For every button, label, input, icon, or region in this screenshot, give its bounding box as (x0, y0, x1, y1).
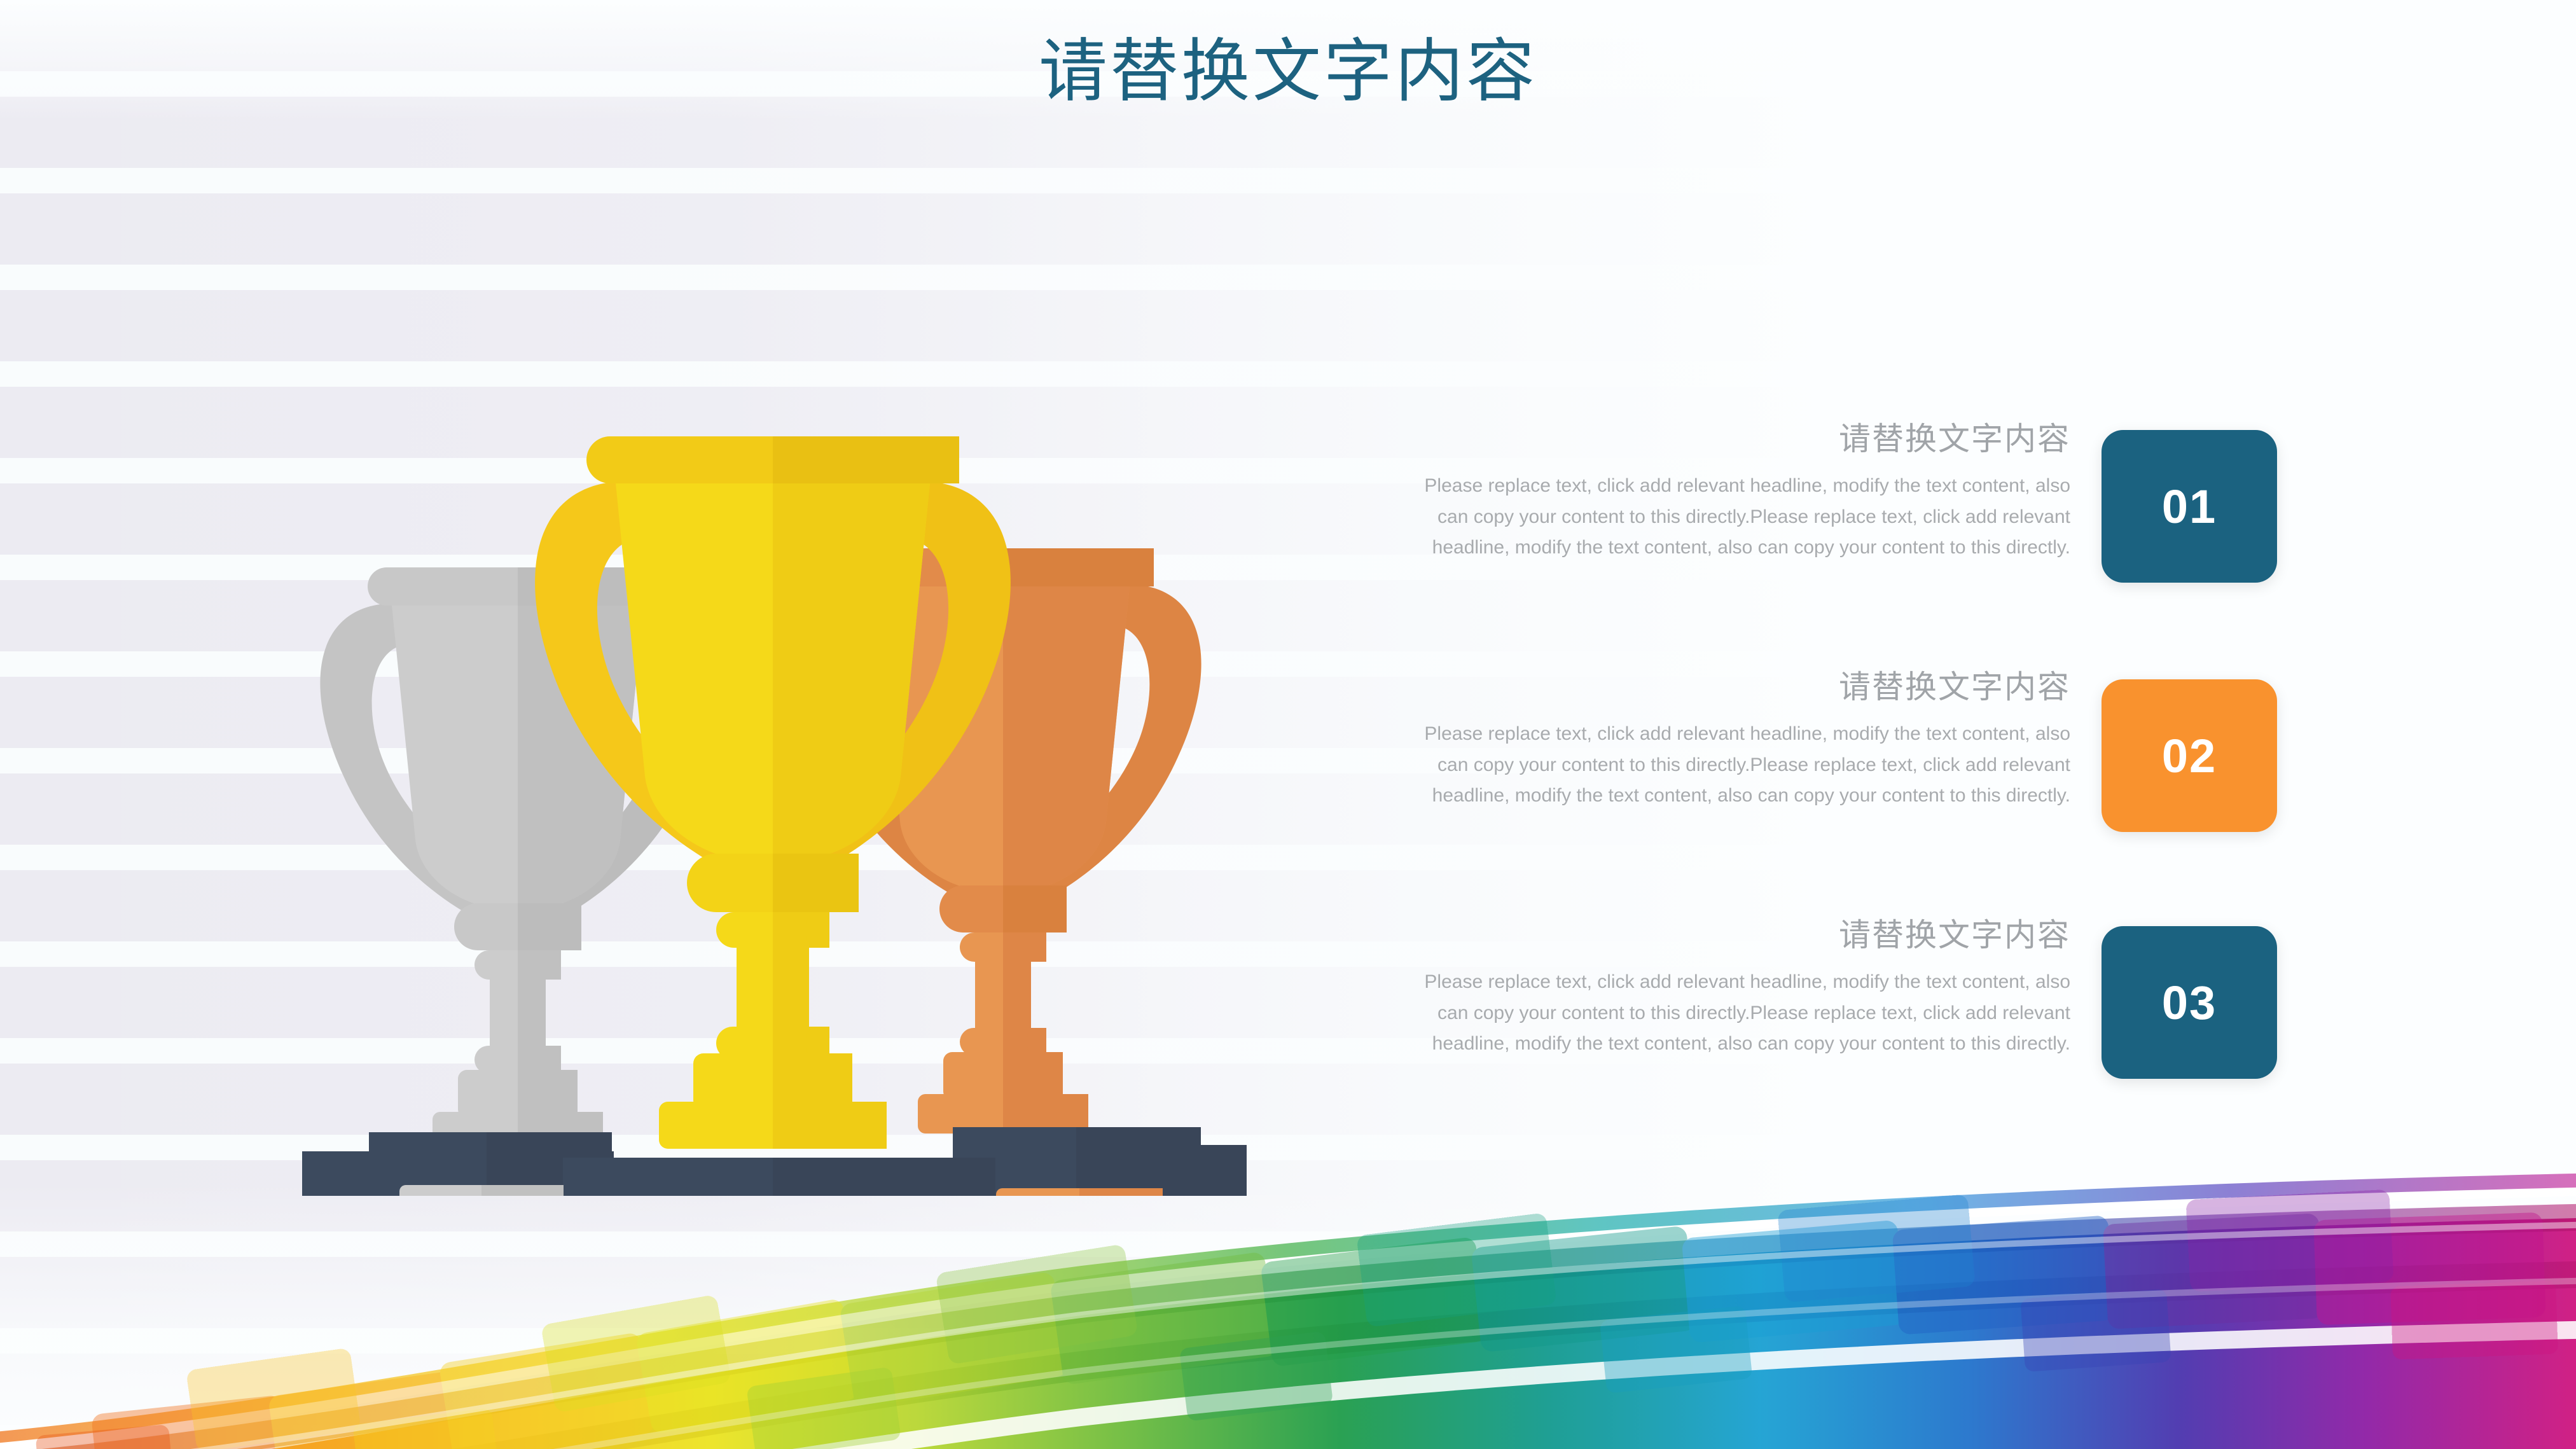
content-body-02: Please replace text, click add relevant … (1412, 719, 2070, 812)
content-badge-02[interactable]: 02 (2102, 679, 2277, 832)
three-trophies-illustration (274, 394, 1247, 1196)
content-body-01: Please replace text, click add relevant … (1412, 471, 2070, 564)
content-badge-03[interactable]: 03 (2102, 926, 2277, 1079)
content-row-03: 请替换文字内容 Please replace text, click add r… (1323, 916, 2277, 1107)
content-list: 请替换文字内容 Please replace text, click add r… (1323, 420, 2277, 1107)
rainbow-ribbon-wave (0, 1156, 2576, 1449)
content-text-02: 请替换文字内容 Please replace text, click add r… (1412, 668, 2070, 812)
content-heading-03: 请替换文字内容 (1412, 916, 2070, 954)
content-text-01: 请替换文字内容 Please replace text, click add r… (1412, 420, 2070, 564)
content-body-03: Please replace text, click add relevant … (1412, 967, 2070, 1060)
content-text-03: 请替换文字内容 Please replace text, click add r… (1412, 916, 2070, 1060)
content-heading-01: 请替换文字内容 (1412, 420, 2070, 458)
content-row-01: 请替换文字内容 Please replace text, click add r… (1323, 420, 2277, 611)
content-heading-02: 请替换文字内容 (1412, 668, 2070, 706)
content-badge-number-02: 02 (2162, 729, 2217, 783)
content-row-02: 请替换文字内容 Please replace text, click add r… (1323, 668, 2277, 859)
content-badge-number-03: 03 (2162, 976, 2217, 1030)
content-badge-01[interactable]: 01 (2102, 430, 2277, 583)
content-badge-number-01: 01 (2162, 480, 2217, 534)
slide-canvas: 请替换文字内容 (0, 0, 2576, 1449)
page-title: 请替换文字内容 (0, 31, 2576, 111)
